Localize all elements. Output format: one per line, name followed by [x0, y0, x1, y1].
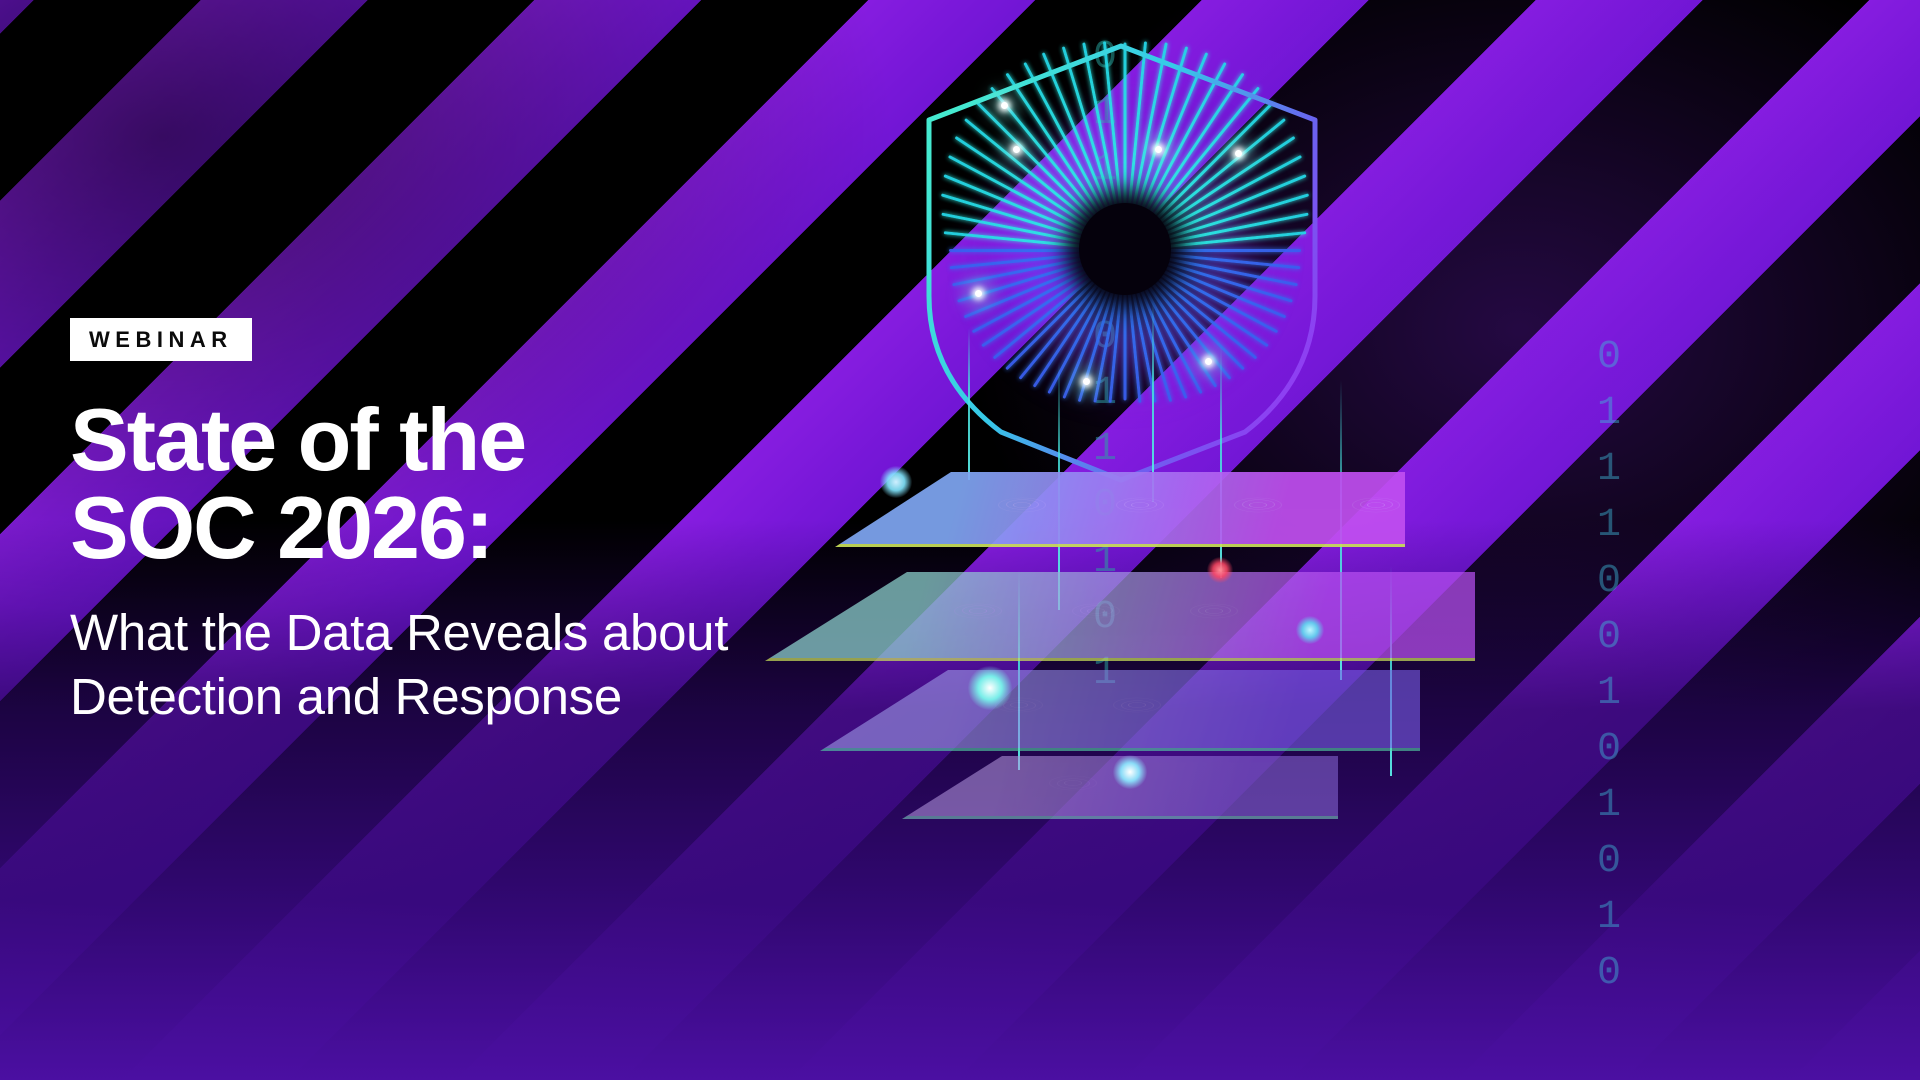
shield-star-node	[1155, 146, 1162, 153]
impact-ripple	[1352, 497, 1400, 511]
impact-ripple	[1049, 776, 1097, 790]
title-line-2: SOC 2026:	[70, 484, 890, 572]
binary-digit: 0	[1592, 834, 1626, 890]
node-cyan-large	[968, 666, 1012, 710]
binary-digit: 1	[1592, 442, 1626, 498]
binary-digit: 0	[1592, 946, 1626, 1002]
node-cyan-small	[1113, 755, 1147, 789]
shield-outline-icon	[905, 28, 1345, 488]
impact-ripple	[1072, 604, 1120, 618]
impact-ripple	[1116, 497, 1164, 511]
shield-emblem	[905, 28, 1345, 488]
plate-3	[820, 670, 1420, 751]
impact-ripple	[954, 604, 1002, 618]
page-subtitle: What the Data Reveals aboutDetection and…	[70, 601, 890, 730]
binary-digit: 1	[1592, 386, 1626, 442]
binary-digit: 1	[1592, 778, 1626, 834]
binary-digit: 0	[1592, 610, 1626, 666]
shield-star-node	[1235, 150, 1242, 157]
impact-ripple	[1190, 604, 1238, 618]
binary-digit: 1	[1592, 498, 1626, 554]
webinar-badge: WEBINAR	[70, 318, 252, 361]
shield-star-node	[1083, 378, 1090, 385]
binary-digit: 1	[1592, 666, 1626, 722]
binary-digit: 1	[1592, 890, 1626, 946]
binary-digit: 0	[1592, 554, 1626, 610]
shield-star-node	[1001, 102, 1008, 109]
subtitle-line-2: Detection and Response	[70, 665, 890, 729]
binary-code-column-right: 011100101010	[1592, 330, 1626, 1002]
node-cyan-small	[1296, 616, 1324, 644]
binary-digit: 0	[1592, 330, 1626, 386]
node-red-alert	[1207, 557, 1233, 583]
subtitle-line-1: What the Data Reveals about	[70, 601, 890, 665]
data-beam	[968, 328, 970, 480]
headline-block: WEBINARState of theSOC 2026:What the Dat…	[70, 318, 890, 730]
banner-canvas: 011000110101 011100101010 WEBINARState o…	[0, 0, 1920, 1080]
impact-ripple	[1234, 497, 1282, 511]
shield-star-node	[1013, 146, 1020, 153]
impact-ripple	[998, 497, 1046, 511]
page-title: State of theSOC 2026:	[70, 396, 890, 572]
plate-1	[835, 472, 1405, 547]
shield-star-node	[975, 290, 982, 297]
title-line-1: State of the	[70, 396, 890, 484]
shield-star-node	[1205, 358, 1212, 365]
binary-digit: 0	[1592, 722, 1626, 778]
impact-ripple	[1113, 698, 1161, 712]
